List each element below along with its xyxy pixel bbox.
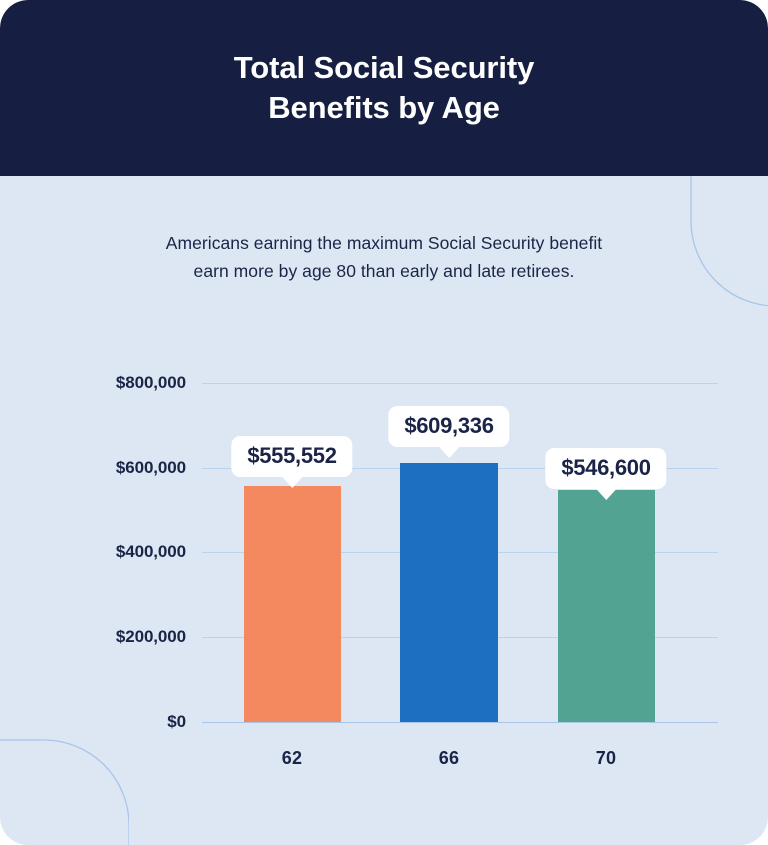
callout-pointer-62-icon xyxy=(281,476,303,488)
y-axis-label-400000: $400,000 xyxy=(116,542,186,562)
page-title: Total Social Security Benefits by Age xyxy=(194,48,575,129)
subtitle-text: Americans earning the maximum Social Sec… xyxy=(166,229,602,286)
bar-70[interactable] xyxy=(558,490,655,722)
value-callout-66-label: $609,336 xyxy=(388,406,509,447)
gridline-axis-zero xyxy=(202,722,718,723)
y-axis-label-800000: $800,000 xyxy=(116,373,186,393)
value-callout-62: $555,552 xyxy=(231,436,352,477)
callout-pointer-70-icon xyxy=(595,488,617,500)
header-banner: Total Social Security Benefits by Age xyxy=(0,0,768,176)
subtitle-block: Americans earning the maximum Social Sec… xyxy=(0,229,768,286)
bar-66[interactable] xyxy=(400,463,498,722)
callout-pointer-66-icon xyxy=(438,446,460,458)
value-callout-62-label: $555,552 xyxy=(231,436,352,477)
x-axis-label-66: 66 xyxy=(439,748,459,769)
infographic-card: Total Social Security Benefits by Age Am… xyxy=(0,0,768,845)
gridline-800000 xyxy=(202,383,718,384)
x-axis-label-70: 70 xyxy=(596,748,616,769)
y-axis-label-0: $0 xyxy=(167,712,186,732)
value-callout-66: $609,336 xyxy=(388,406,509,447)
y-axis-label-200000: $200,000 xyxy=(116,627,186,647)
bar-62[interactable] xyxy=(244,486,341,722)
x-axis-label-62: 62 xyxy=(282,748,302,769)
value-callout-70-label: $546,600 xyxy=(545,448,666,489)
y-axis-label-600000: $600,000 xyxy=(116,458,186,478)
value-callout-70: $546,600 xyxy=(545,448,666,489)
